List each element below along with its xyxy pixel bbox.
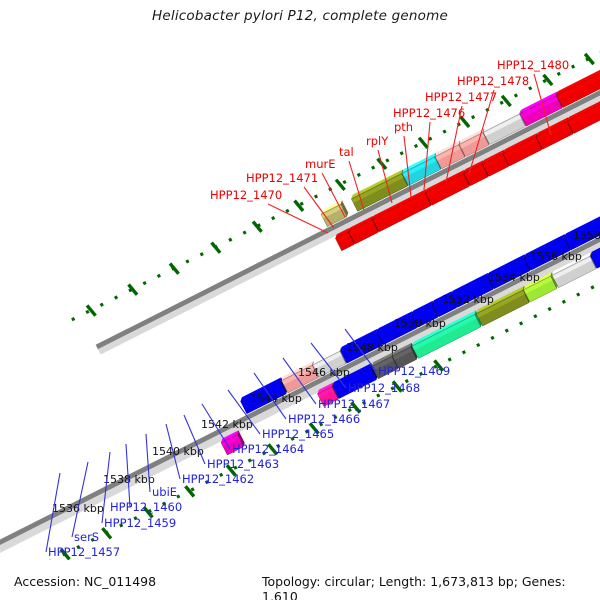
ruler-tick-label: 1558 kbp (573, 229, 600, 242)
ruler-major-tick (253, 220, 262, 233)
ruler-tick-label: 1546 kbp (298, 366, 350, 379)
reverse-gene-annotations[interactable]: HPP12_1469HPP12_1468HPP12_1467HPP12_1466… (46, 329, 450, 559)
gene-label-text: HPP12_1459 (104, 516, 176, 530)
gene-label-text: HPP12_1478 (457, 74, 529, 88)
ruler-tick-label: 1542 kbp (201, 418, 253, 431)
gene-label-text: HPP12_1460 (110, 500, 182, 514)
gene-label-text: HPP12_1471 (246, 171, 318, 185)
gene-label-text: tal (339, 145, 354, 159)
ruler-major-tick (170, 262, 179, 275)
gene-label-text: HPP12_1480 (497, 58, 569, 72)
genome-map[interactable]: 1536 kbp1538 kbp1540 kbp1542 kbp1544 kbp… (0, 0, 600, 600)
gene-label-text: rplY (366, 134, 389, 148)
ruler-tick-label: 1550 kbp (394, 317, 446, 330)
ruler-tick-labels: 1536 kbp1538 kbp1540 kbp1542 kbp1544 kbp… (52, 229, 600, 515)
gene-label-text: serS (74, 530, 99, 544)
ruler-tick-label: 1554 kbp (488, 271, 540, 284)
accession-text: Accession: NC_011498 (14, 574, 156, 589)
ruler-major-tick (336, 178, 345, 191)
genome-viewer: Helicobacter pylori P12, complete genome (0, 0, 600, 600)
gene-label-text: HPP12_1468 (348, 381, 420, 395)
gene-label-text: HPP12_1476 (393, 106, 465, 120)
ruler-tick-label: 1544 kbp (250, 392, 302, 405)
gene-label-text: HPP12_1477 (425, 90, 497, 104)
ruler-major-tick (419, 136, 428, 149)
gene-label-text: HPP12_1457 (48, 545, 120, 559)
ruler-major-tick (185, 485, 194, 498)
gene-label-text: pth (394, 120, 413, 134)
gene-label-text: HPP12_1469 (378, 364, 450, 378)
status-bar: Accession: NC_011498 Topology: circular;… (0, 574, 600, 592)
ruler-major-tick (212, 241, 221, 254)
gene-label-text: HPP12_1462 (182, 472, 254, 486)
gene-label-text: HPP12_1464 (232, 442, 304, 456)
ruler-major-tick (295, 199, 304, 212)
ruler-major-tick (502, 94, 511, 107)
gene-label-text: HPP12_1465 (262, 427, 334, 441)
gene-label-text: ubiE (152, 485, 177, 499)
ruler-tick-label: 1556 kbp (530, 250, 582, 263)
ruler-tick-label: 1548 kbp (346, 341, 398, 354)
ruler-tick-label: 1540 kbp (152, 445, 204, 458)
gene-label-text: HPP12_1466 (288, 412, 360, 426)
gene-label-text: murE (305, 157, 336, 171)
ruler-tick-label: 1552 kbp (442, 293, 494, 306)
gene-label-text: HPP12_1467 (318, 397, 390, 411)
gene-label-text: HPP12_1463 (207, 457, 279, 471)
gene-label-text: HPP12_1470 (210, 188, 282, 202)
topology-text: Topology: circular; Length: 1,673,813 bp… (262, 574, 600, 600)
